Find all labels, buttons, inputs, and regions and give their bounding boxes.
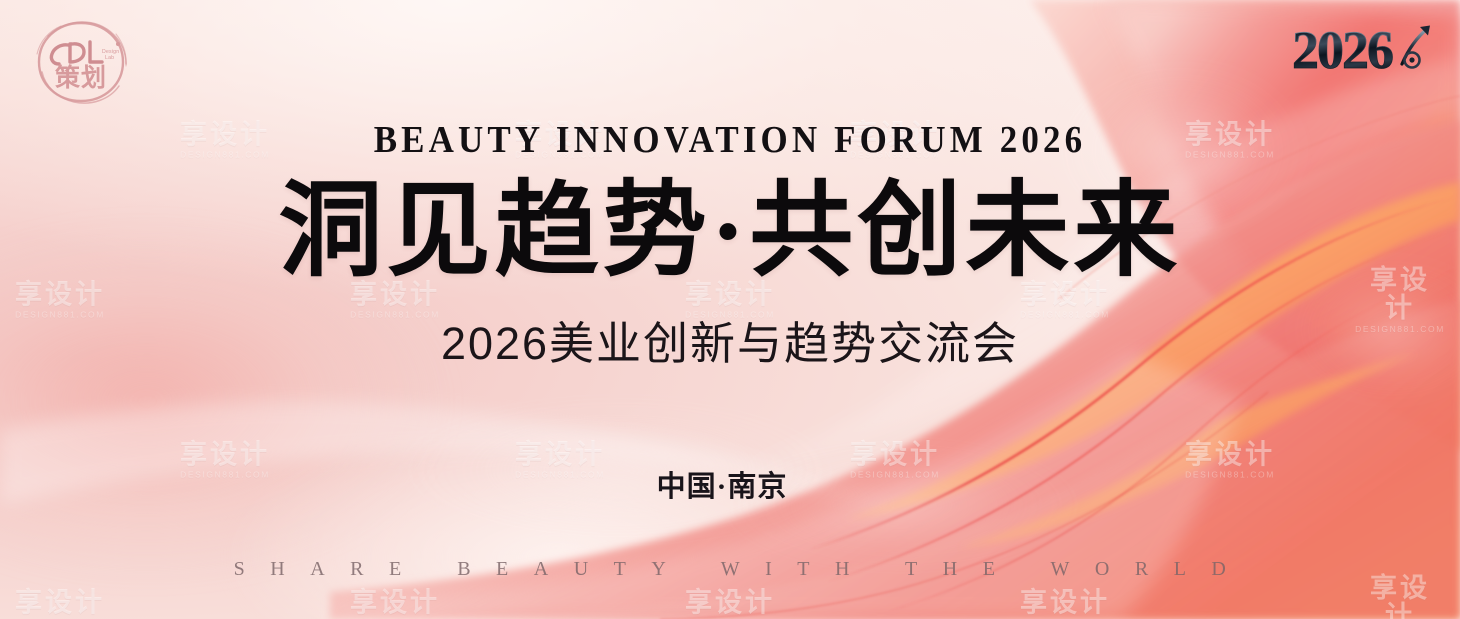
headline: 洞见趋势·共创未来 — [0, 176, 1460, 288]
city-location: 中国·南京 — [0, 468, 1452, 506]
footer-tagline: SHARE BEAUTY WITH THE WORLD — [0, 556, 1460, 582]
poster-content: BEAUTY INNOVATION FORUM 2026 洞见趋势·共创未来 2… — [0, 0, 1460, 619]
event-poster: 享设计 DESIGN881.COM 享设计 DESIGN881.COM 享设计 … — [0, 0, 1460, 619]
eyebrow-title: BEAUTY INNOVATION FORUM 2026 — [58, 117, 1401, 163]
subheadline: 2026美业创新与趋势交流会 — [0, 315, 1460, 373]
